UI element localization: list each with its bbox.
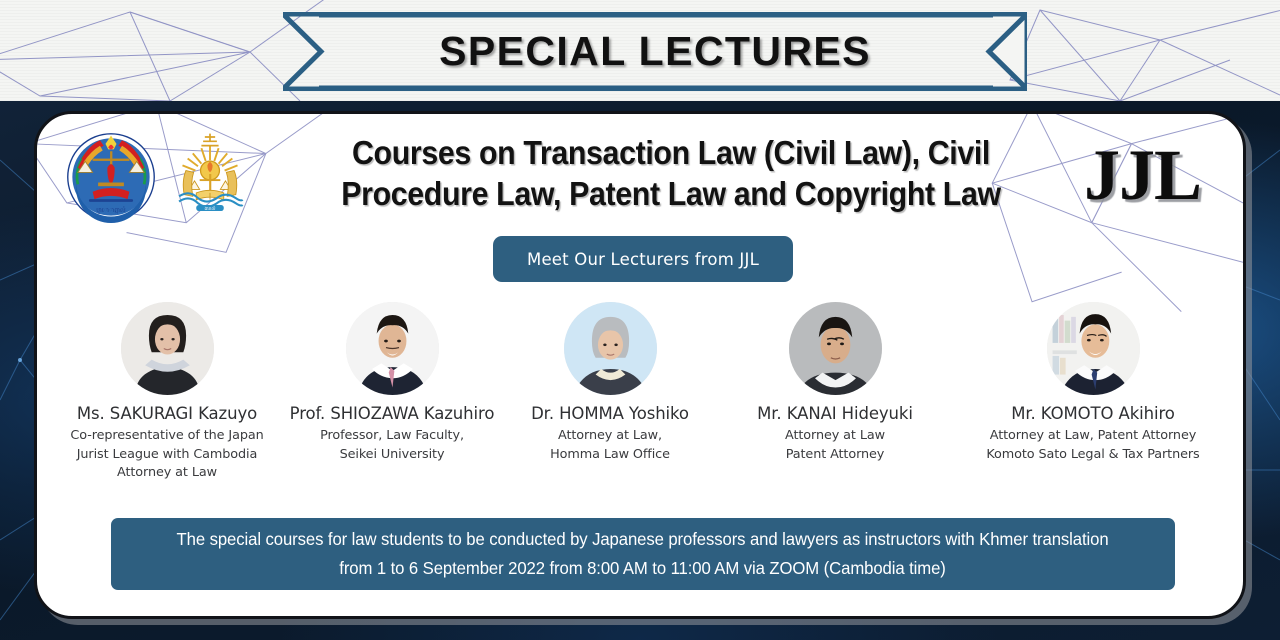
lecturer-name: Ms. SAKURAGI Kazuyo xyxy=(51,403,283,425)
lecturer-role: Attorney at Law Patent Attorney xyxy=(719,427,951,464)
list-item: Dr. HOMMA Yoshiko Attorney at Law, Homma… xyxy=(501,302,719,464)
svg-text:ឬាោាព្មាល៓: ឬាោាព្មាល៓ xyxy=(96,206,126,214)
poster-title: SPECIAL LECTURES xyxy=(283,12,1027,91)
lecturer-role: Professor, Law Faculty, Seikei Universit… xyxy=(283,427,501,464)
portrait-kanai xyxy=(789,302,882,395)
course-details-banner: The special courses for law students to … xyxy=(111,518,1175,590)
list-item: Mr. KANAI Hideyuki Attorney at Law Paten… xyxy=(719,302,951,464)
list-item: Ms. SAKURAGI Kazuyo Co-representative of… xyxy=(51,302,283,483)
lecturer-role: Co-representative of the Japan Jurist Le… xyxy=(51,427,283,483)
emblem-group: ឬាោាព្មាល៓ xyxy=(65,131,253,223)
poster-root: SPECIAL LECTURES xyxy=(0,0,1280,640)
lecturer-name: Mr. KANAI Hideyuki xyxy=(719,403,951,425)
jjl-logo: JJL xyxy=(1084,139,1201,211)
lecturer-role: Attorney at Law, Patent Attorney Komoto … xyxy=(951,427,1235,464)
list-item: Mr. KOMOTO Akihiro Attorney at Law, Pate… xyxy=(951,302,1235,464)
royal-academy-for-judicial-professions-emblem: ងារាល៓ xyxy=(167,131,253,223)
course-heading: Courses on Transaction Law (Civil Law), … xyxy=(321,132,1020,214)
portrait-komoto xyxy=(1047,302,1140,395)
list-item: Prof. SHIOZAWA Kazuhiro Professor, Law F… xyxy=(283,302,501,464)
lecturer-name: Dr. HOMMA Yoshiko xyxy=(501,403,719,425)
ribbon-banner: SPECIAL LECTURES xyxy=(283,12,1027,91)
course-details-text: The special courses for law students to … xyxy=(177,525,1109,583)
lecturer-name: Prof. SHIOZAWA Kazuhiro xyxy=(283,403,501,425)
lecturer-role: Attorney at Law, Homma Law Office xyxy=(501,427,719,464)
meet-lecturers-button[interactable]: Meet Our Lecturers from JJL xyxy=(493,236,793,282)
portrait-shiozawa xyxy=(346,302,439,395)
portrait-homma xyxy=(564,302,657,395)
lecturer-name: Mr. KOMOTO Akihiro xyxy=(951,403,1235,425)
svg-text:ងារាល៓: ងារាល៓ xyxy=(205,205,216,211)
header-strip: SPECIAL LECTURES xyxy=(0,0,1280,101)
lecturer-list: Ms. SAKURAGI Kazuyo Co-representative of… xyxy=(51,302,1235,483)
main-card: ឬាោាព្មាល៓ xyxy=(34,111,1246,619)
bar-association-of-cambodia-emblem: ឬាោាព្មាល៓ xyxy=(65,131,157,223)
portrait-sakuragi xyxy=(121,302,214,395)
